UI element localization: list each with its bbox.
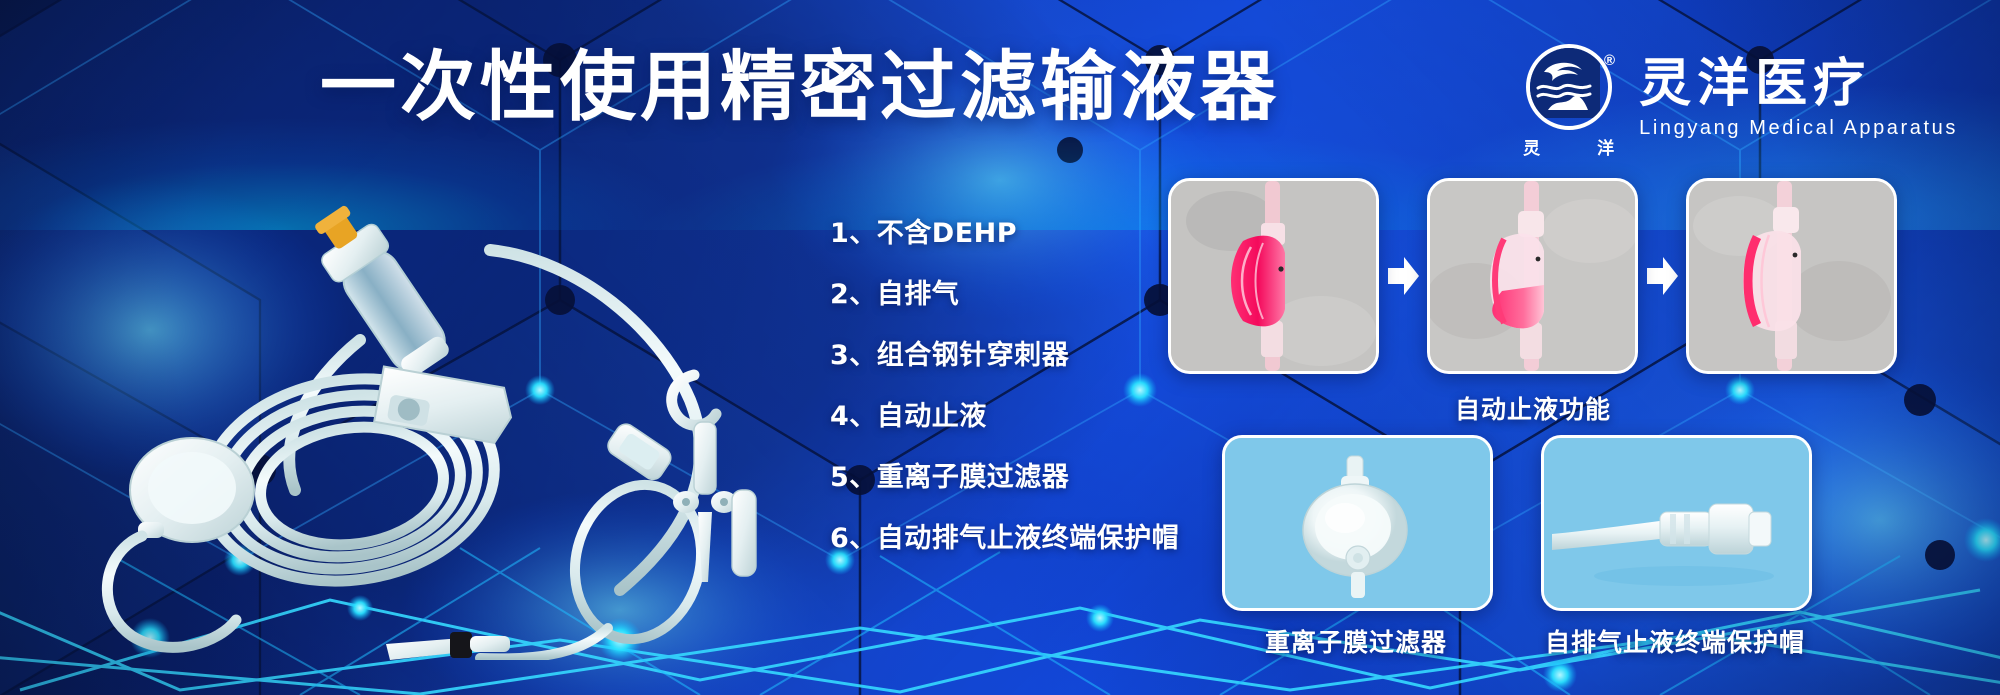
banner-header: 一次性使用精密过滤输液器 ® 灵 洋 [0, 0, 2000, 160]
feature-item-3: 3、组合钢针穿刺器 [830, 340, 1180, 372]
drip-chamber [302, 197, 458, 385]
lingyang-emblem-icon: ® 灵 洋 [1521, 44, 1617, 152]
caption-auto-stop: 自动止液功能 [1455, 395, 1611, 425]
card-heavy-ion-filter [1222, 435, 1493, 611]
inline-connector [604, 420, 674, 483]
product-photo [60, 190, 780, 660]
arrow-right-icon-2 [1638, 254, 1686, 298]
caption-protector-cap: 自排气止液终端保护帽 [1545, 628, 1805, 658]
feature-item-1: 1、不含DEHP [830, 218, 1180, 250]
brand-name-en: Lingyang Medical Apparatus [1639, 115, 1958, 141]
registered-trademark-icon: ® [1604, 52, 1615, 69]
feature-item-4: 4、自动止液 [830, 401, 1180, 433]
feature-item-5: 5、重离子膜过滤器 [830, 462, 1180, 494]
brand-name-cn: 灵洋医疗 [1639, 55, 1958, 113]
filter-disc [130, 438, 254, 542]
emblem-sub-left: 灵 [1523, 134, 1541, 159]
emblem-circle-icon [1526, 44, 1612, 130]
brand-text-block: 灵洋医疗 Lingyang Medical Apparatus [1639, 55, 1958, 141]
brand-logo: ® 灵 洋 灵洋医疗 Lingyang Medical Apparatus [1521, 44, 1958, 152]
banner-root: 一次性使用精密过滤输液器 ® 灵 洋 [0, 0, 2000, 695]
arrow-right-icon-1 [1379, 254, 1427, 298]
caption-heavy-ion-filter: 重离子膜过滤器 [1265, 628, 1447, 658]
auto-stop-frame-1 [1168, 178, 1379, 374]
card-air-vent-protector-cap [1541, 435, 1812, 611]
page-title: 一次性使用精密过滤输液器 [320, 45, 1280, 129]
emblem-sub-right: 洋 [1597, 134, 1615, 159]
auto-stop-frame-2 [1427, 178, 1638, 374]
feature-list: 1、不含DEHP 2、自排气 3、组合钢针穿刺器 4、自动止液 5、重离子膜过滤… [830, 218, 1180, 555]
product-detail-cards [1222, 435, 1812, 611]
feature-item-6: 6、自动排气止液终端保护帽 [830, 523, 1180, 555]
emblem-subtitle: 灵 洋 [1523, 134, 1615, 159]
auto-stop-sequence [1168, 178, 1897, 374]
protector-cap [732, 490, 756, 576]
auto-stop-frame-3 [1686, 178, 1897, 374]
feature-item-2: 2、自排气 [830, 279, 1180, 311]
needle-assembly [672, 375, 737, 582]
